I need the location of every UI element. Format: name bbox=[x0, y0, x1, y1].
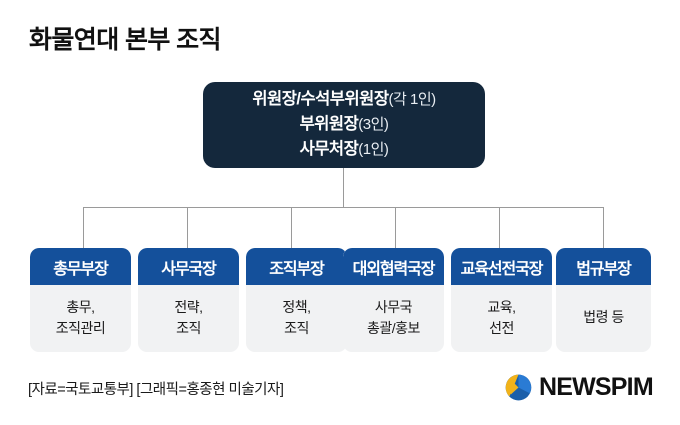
page-title: 화물연대 본부 조직 bbox=[29, 20, 221, 56]
root-line-2-note: (3인) bbox=[358, 116, 388, 133]
connector-horizontal-bus bbox=[83, 207, 604, 208]
dept-duty-line: 교육, bbox=[487, 297, 515, 318]
connector-root-vertical bbox=[343, 168, 344, 208]
newspim-logo: NEWSPIM bbox=[505, 374, 653, 401]
dept-title-samuguk: 사무국장 bbox=[138, 248, 239, 285]
connector-drop-4 bbox=[395, 207, 396, 248]
connector-drop-3 bbox=[291, 207, 292, 248]
root-line-1-label: 위원장/수석부위원장 bbox=[252, 90, 388, 108]
source-credit: [자료=국토교통부] [그래픽=홍종현 미술기자] bbox=[28, 378, 283, 399]
dept-duty-line: 조직 bbox=[284, 318, 309, 339]
dept-duty-line: 법령 등 bbox=[583, 307, 624, 328]
root-line-2-label: 부위원장 bbox=[300, 115, 359, 133]
dept-title-jojik: 조직부장 bbox=[246, 248, 347, 285]
dept-title-daeoe: 대외협력국장 bbox=[343, 248, 444, 285]
dept-title-beopgyu: 법규부장 bbox=[556, 248, 651, 285]
dept-duties-daeoe: 사무국 총괄/홍보 bbox=[343, 285, 444, 352]
dept-card-daeoe[interactable]: 대외협력국장 사무국 총괄/홍보 bbox=[343, 248, 444, 352]
root-line-3-note: (1인) bbox=[358, 141, 388, 158]
dept-card-beopgyu[interactable]: 법규부장 법령 등 bbox=[556, 248, 651, 352]
root-line-1-note: (각 1인) bbox=[389, 91, 436, 108]
infographic-root: 화물연대 본부 조직 위원장/수석부위원장(각 1인) 부위원장(3인) 사무처… bbox=[0, 0, 680, 425]
dept-card-samuguk[interactable]: 사무국장 전략, 조직 bbox=[138, 248, 239, 352]
dept-card-chongmu[interactable]: 총무부장 총무, 조직관리 bbox=[30, 248, 131, 352]
connector-drop-1 bbox=[83, 207, 84, 248]
dept-duties-gyoyuk: 교육, 선전 bbox=[451, 285, 552, 352]
newspim-globe-icon bbox=[505, 374, 532, 401]
newspim-wordmark: NEWSPIM bbox=[539, 375, 653, 400]
connector-drop-6 bbox=[603, 207, 604, 248]
dept-duty-line: 조직 bbox=[176, 318, 201, 339]
dept-title-chongmu: 총무부장 bbox=[30, 248, 131, 285]
dept-title-gyoyuk: 교육선전국장 bbox=[451, 248, 552, 285]
root-line-3-label: 사무처장 bbox=[300, 140, 359, 158]
dept-duty-line: 전략, bbox=[174, 297, 202, 318]
dept-duties-samuguk: 전략, 조직 bbox=[138, 285, 239, 352]
dept-duty-line: 총괄/홍보 bbox=[367, 318, 420, 339]
dept-card-jojik[interactable]: 조직부장 정책, 조직 bbox=[246, 248, 347, 352]
dept-duty-line: 총무, bbox=[66, 297, 94, 318]
dept-duty-line: 정책, bbox=[282, 297, 310, 318]
dept-card-gyoyuk[interactable]: 교육선전국장 교육, 선전 bbox=[451, 248, 552, 352]
dept-duties-chongmu: 총무, 조직관리 bbox=[30, 285, 131, 352]
connector-drop-2 bbox=[187, 207, 188, 248]
root-line-1: 위원장/수석부위원장(각 1인) bbox=[252, 87, 435, 112]
root-line-2: 부위원장(3인) bbox=[300, 112, 389, 137]
dept-duty-line: 조직관리 bbox=[56, 318, 106, 339]
dept-duties-beopgyu: 법령 등 bbox=[556, 285, 651, 352]
dept-duty-line: 사무국 bbox=[375, 297, 412, 318]
root-line-3: 사무처장(1인) bbox=[300, 137, 389, 162]
org-root-node: 위원장/수석부위원장(각 1인) 부위원장(3인) 사무처장(1인) bbox=[203, 82, 485, 168]
dept-duties-jojik: 정책, 조직 bbox=[246, 285, 347, 352]
connector-drop-5 bbox=[499, 207, 500, 248]
dept-duty-line: 선전 bbox=[489, 318, 514, 339]
